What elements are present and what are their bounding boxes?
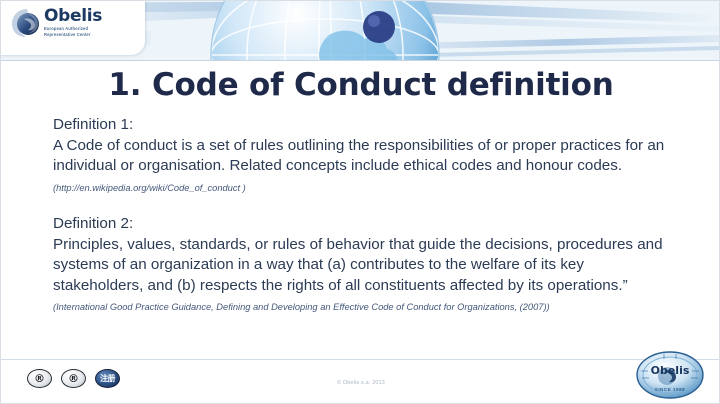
definition-1-text: A Code of conduct is a set of rules outl… [53, 136, 669, 198]
definition-1-block: Definition 1: A Code of conduct is a set… [53, 115, 669, 197]
definition-1-citation: (http://en.wikipedia.org/wiki/Code_of_co… [53, 183, 246, 193]
slide: Obelis European Authorized Representativ… [0, 0, 720, 404]
header-banner: Obelis European Authorized Representativ… [1, 1, 720, 61]
seal-wordmark: Obelis [651, 364, 690, 377]
obelis-swirl-icon [11, 7, 45, 39]
logo-subtitle-line1: European Authorized [44, 26, 136, 31]
logo-subtitle-line2: Representative Center [44, 32, 136, 37]
seal-since-text: SINCE 1988 [655, 387, 685, 392]
header-divider [1, 60, 720, 61]
definition-2-heading: Definition 2: [53, 214, 669, 235]
page-title: 1. Code of Conduct definition [1, 67, 720, 103]
obelis-seal-icon: Obelis SINCE 1988 [634, 350, 706, 400]
definition-2-citation: (International Good Practice Guidance, D… [53, 302, 550, 312]
closing-quote-mark: ” [623, 277, 628, 294]
definition-2-block: Definition 2: Principles, values, standa… [53, 214, 669, 317]
logo-panel: Obelis European Authorized Representativ… [1, 1, 145, 55]
globe-icon [209, 1, 441, 61]
footer-divider [1, 359, 720, 360]
definition-1-heading: Definition 1: [53, 115, 669, 136]
logo-wordmark: Obelis [44, 8, 136, 25]
definition-2-text: Principles, values, standards, or rules … [53, 235, 669, 317]
obelis-logo[interactable]: Obelis European Authorized Representativ… [11, 7, 135, 41]
copyright-notice: © Obelis s.a. 2013 [1, 380, 720, 386]
slide-body: Definition 1: A Code of conduct is a set… [53, 115, 669, 317]
definition-2-body: Principles, values, standards, or rules … [53, 236, 663, 294]
block-spacer [53, 197, 669, 214]
definition-1-body: A Code of conduct is a set of rules outl… [53, 137, 664, 175]
logo-text: Obelis European Authorized Representativ… [44, 8, 136, 37]
